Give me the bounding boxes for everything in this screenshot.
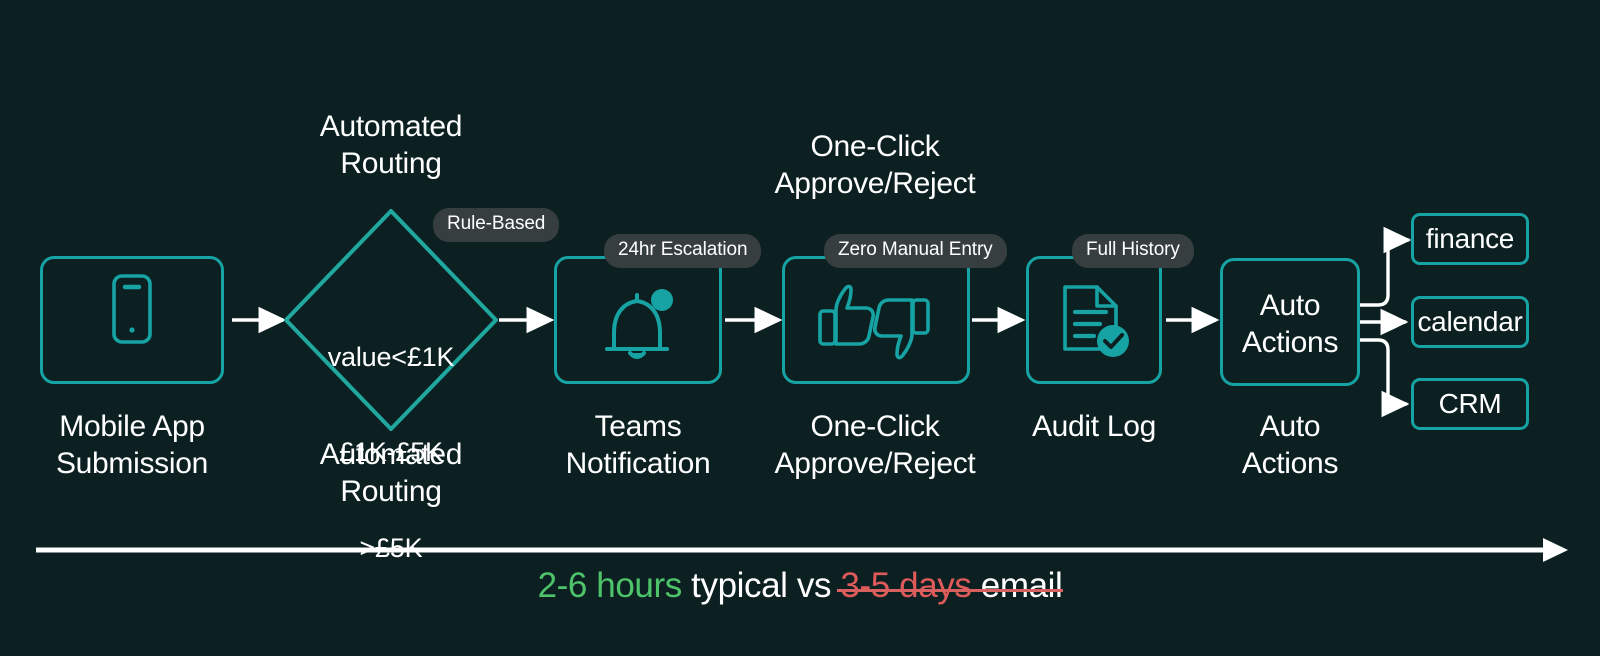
label-line-2: Submission (16, 445, 248, 482)
node-audit-log[interactable] (1026, 256, 1162, 384)
caption-middle: typical vs (682, 566, 841, 605)
node-toplabel-one-click: One-Click Approve/Reject (759, 128, 991, 202)
output-chip-calendar[interactable]: calendar (1411, 296, 1529, 348)
pill-24hr-escalation[interactable]: 24hr Escalation (604, 234, 761, 268)
output-chip-finance[interactable]: finance (1411, 213, 1529, 265)
caption-fast: 2-6 hours (538, 566, 682, 605)
node-mobile-app-submission[interactable] (40, 256, 224, 384)
label-line-1: Auto (1174, 408, 1406, 445)
pill-zero-manual-entry[interactable]: Zero Manual Entry (824, 234, 1007, 268)
label-line-2: Notification (522, 445, 754, 482)
node-teams-notification[interactable] (554, 256, 722, 384)
toplabel-line-1: One-Click (759, 128, 991, 165)
caption-tail: email (971, 566, 1062, 605)
condition-line-3: >£5K (291, 533, 491, 565)
label-line-2: Actions (1174, 445, 1406, 482)
label-line-2: Approve/Reject (759, 445, 991, 482)
node-label-automated-routing: Automated Routing (275, 436, 507, 510)
toplabel-line-2: Routing (275, 145, 507, 182)
node-label-one-click-approve-reject: One-Click Approve/Reject (759, 408, 991, 482)
caption-slow: 3-5 days (840, 566, 971, 605)
toplabel-line-1: Automated (275, 108, 507, 145)
label-line-1: One-Click (759, 408, 991, 445)
node-one-click-approve-reject[interactable] (782, 256, 970, 384)
branch-crm (1359, 340, 1406, 404)
node-label-teams-notification: Teams Notification (522, 408, 754, 482)
pill-rule-based[interactable]: Rule-Based (433, 208, 559, 242)
auto-actions-line-2: Actions (1220, 325, 1360, 362)
branch-finance (1359, 240, 1408, 305)
pill-full-history[interactable]: Full History (1072, 234, 1194, 268)
node-label-mobile-app-submission: Mobile App Submission (16, 408, 248, 482)
output-chip-crm[interactable]: CRM (1411, 378, 1529, 430)
label-line-2: Routing (275, 473, 507, 510)
timeline-arrow-right (36, 538, 1568, 562)
node-auto-actions-text: Auto Actions (1220, 288, 1360, 361)
condition-line-1: value<£1K (291, 342, 491, 374)
label-line-1: Teams (522, 408, 754, 445)
label-line-1: Automated (275, 436, 507, 473)
node-label-auto-actions: Auto Actions (1174, 408, 1406, 482)
diagram-canvas: Mobile App Submission Automated Routing … (0, 0, 1600, 656)
node-toplabel-automated-routing: Automated Routing (275, 108, 507, 182)
label-line-1: Mobile App (16, 408, 248, 445)
caption-strikethrough (837, 589, 1063, 592)
timeline-caption: 2-6 hours typical vs 3-5 days email (0, 566, 1600, 606)
auto-actions-line-1: Auto (1220, 288, 1360, 325)
toplabel-line-2: Approve/Reject (759, 165, 991, 202)
